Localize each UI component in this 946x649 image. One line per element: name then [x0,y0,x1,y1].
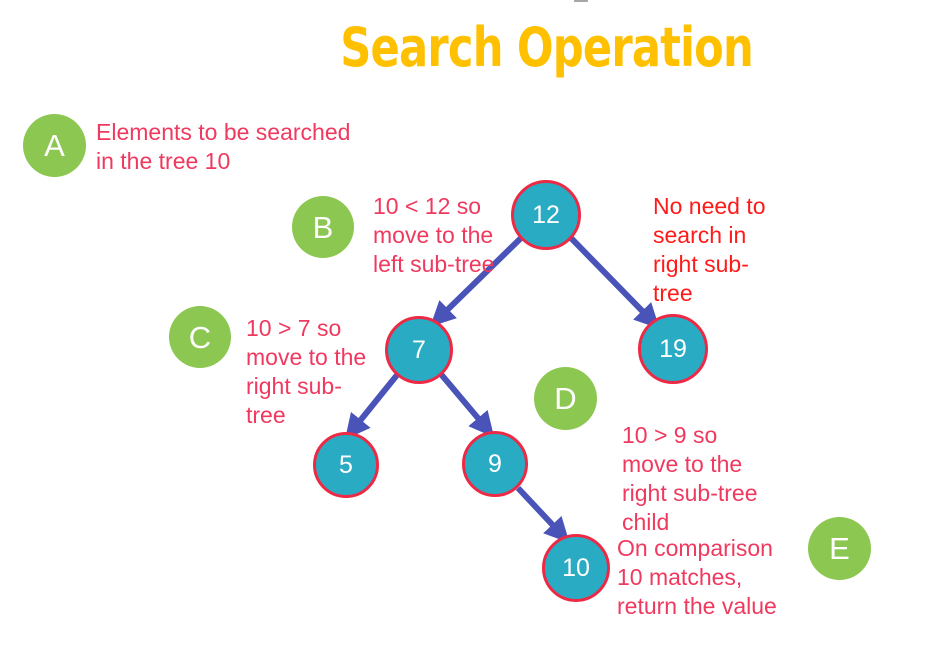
tree-node-7[interactable]: 7 [385,316,453,384]
edge-9-to-10 [518,488,563,536]
edge-12-to-19 [571,238,653,322]
tree-node-9-value: 9 [488,452,502,477]
step-badge-c-label: C [189,322,211,353]
note-no-need-right-subtree: No need to search in right sub- tree [653,192,783,308]
step-badge-a[interactable]: A [23,114,86,177]
tree-node-9[interactable]: 9 [462,431,528,497]
edge-7-to-9 [440,373,488,430]
note-step-b: 10 < 12 so move to the left sub-tree [373,192,523,279]
tree-node-10-value: 10 [562,556,590,581]
tree-node-19[interactable]: 19 [638,314,708,384]
page-title: Search Operation [95,18,852,78]
step-badge-d[interactable]: D [534,367,597,430]
note-step-e: On comparison 10 matches, return the val… [617,534,792,621]
cropped-header-fragment [574,0,588,2]
step-badge-b[interactable]: B [292,196,354,258]
step-badge-e-label: E [829,533,850,564]
note-step-c: 10 > 7 so move to the right sub- tree [246,314,386,430]
tree-node-12-value: 12 [532,203,560,228]
tree-node-5[interactable]: 5 [313,432,379,498]
step-badge-c[interactable]: C [169,306,231,368]
tree-node-10[interactable]: 10 [542,534,610,602]
step-badge-e[interactable]: E [808,517,871,580]
note-step-d: 10 > 9 so move to the right sub-tree chi… [622,421,782,537]
tree-node-7-value: 7 [412,338,426,363]
step-badge-a-label: A [44,130,65,161]
step-badge-d-label: D [554,383,576,414]
slide-canvas: Search Operation 12 19 7 5 9 10 [0,0,946,649]
note-elements-to-search: Elements to be searched in the tree 10 [96,118,364,176]
step-badge-b-label: B [313,212,334,243]
tree-node-5-value: 5 [339,453,353,478]
tree-node-19-value: 19 [659,337,687,362]
tree-edges [0,0,946,649]
